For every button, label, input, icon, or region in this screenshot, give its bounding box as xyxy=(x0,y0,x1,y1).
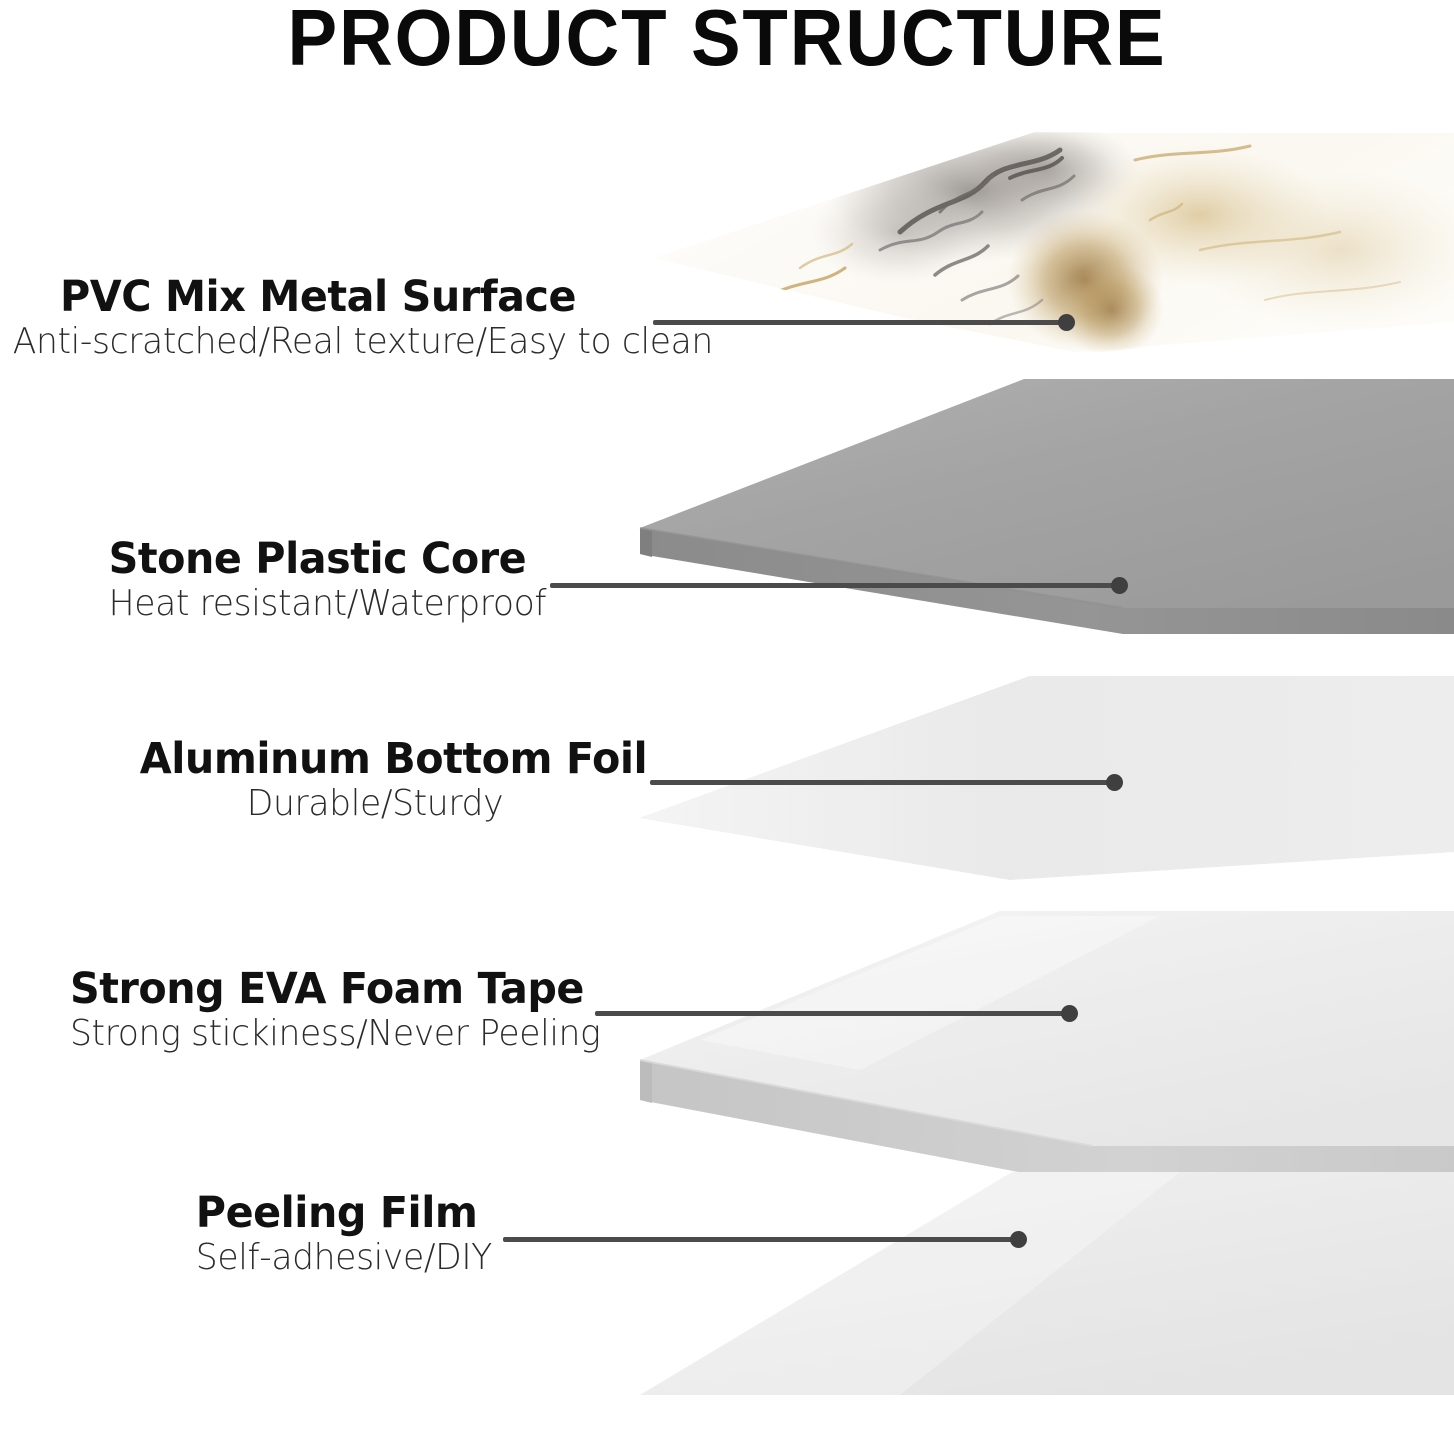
product-structure-infographic: PRODUCT STRUCTURE xyxy=(0,0,1454,1431)
leader-line-strong-eva-foam-tape xyxy=(595,1011,1070,1016)
layer-shape-peeling-film xyxy=(640,1172,1454,1395)
callout-aluminum-bottom-foil: Aluminum Bottom Foil Durable/Sturdy xyxy=(130,738,620,823)
callout-title-stone-plastic-core: Stone Plastic Core xyxy=(109,538,522,582)
callout-subtitle-peeling-film: Self-adhesive/DIY xyxy=(196,1239,474,1277)
callout-subtitle-pvc-mix-metal-surface: Anti-scratched/Real texture/Easy to clea… xyxy=(13,323,624,361)
layer-shape-stone-plastic-core xyxy=(640,379,1454,634)
callout-pvc-mix-metal-surface: PVC Mix Metal Surface Anti-scratched/Rea… xyxy=(0,276,636,361)
leader-dot-pvc-mix-metal-surface xyxy=(1058,314,1075,331)
leader-dot-strong-eva-foam-tape xyxy=(1061,1005,1078,1022)
callout-title-strong-eva-foam-tape: Strong EVA Foam Tape xyxy=(70,968,550,1012)
layer-shape-strong-eva-foam-tape xyxy=(640,911,1454,1186)
callout-subtitle-stone-plastic-core: Heat resistant/Waterproof xyxy=(109,585,522,623)
leader-line-aluminum-bottom-foil xyxy=(650,780,1115,785)
callout-title-peeling-film: Peeling Film xyxy=(196,1192,474,1236)
leader-line-pvc-mix-metal-surface xyxy=(653,320,1067,325)
callout-title-aluminum-bottom-foil: Aluminum Bottom Foil xyxy=(140,738,610,782)
callout-stone-plastic-core: Stone Plastic Core Heat resistant/Waterp… xyxy=(100,538,530,623)
leader-dot-aluminum-bottom-foil xyxy=(1106,774,1123,791)
leader-line-peeling-film xyxy=(503,1237,1019,1242)
callout-strong-eva-foam-tape: Strong EVA Foam Tape Strong stickiness/N… xyxy=(60,968,560,1053)
callout-title-pvc-mix-metal-surface: PVC Mix Metal Surface xyxy=(13,276,624,320)
callout-subtitle-strong-eva-foam-tape: Strong stickiness/Never Peeling xyxy=(70,1015,550,1053)
leader-dot-stone-plastic-core xyxy=(1111,577,1128,594)
callout-peeling-film: Peeling Film Self-adhesive/DIY xyxy=(190,1192,480,1277)
leader-line-stone-plastic-core xyxy=(550,583,1120,588)
leader-dot-peeling-film xyxy=(1010,1231,1027,1248)
callout-subtitle-aluminum-bottom-foil: Durable/Sturdy xyxy=(140,785,610,823)
